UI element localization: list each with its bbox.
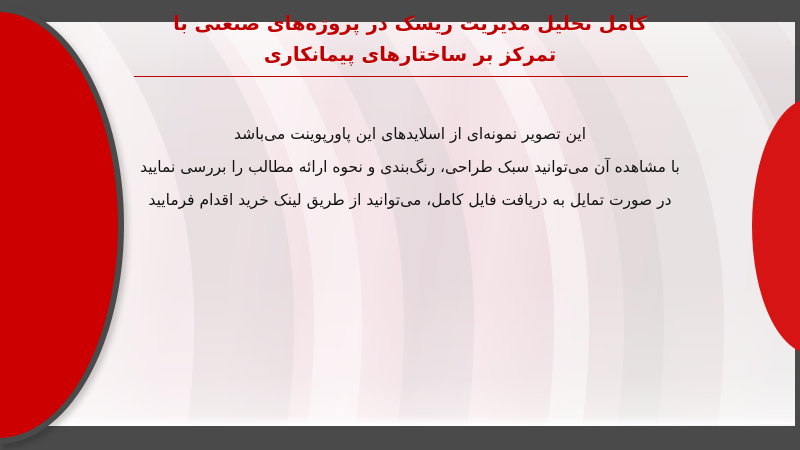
slide-title: کامل تحلیل مدیریت ریسک در پروژه‌های صنعت… (120, 8, 700, 70)
slide-body-line-3: در صورت تمایل به دریافت فایل کامل، می‌تو… (70, 184, 750, 217)
slide-frame-bottom-band (0, 426, 800, 450)
slide-body-text: این تصویر نمونه‌ای از اسلایدهای این پاور… (70, 118, 750, 217)
slide-body-line-2: با مشاهده آن می‌توانید سبک طراحی، رنگ‌بن… (70, 151, 750, 184)
presentation-slide: کامل تحلیل مدیریت ریسک در پروژه‌های صنعت… (0, 0, 800, 450)
slide-title-line-2: تمرکز بر ساختارهای پیمانکاری (120, 39, 700, 70)
slide-title-line-1: کامل تحلیل مدیریت ریسک در پروژه‌های صنعت… (120, 8, 700, 39)
title-underline-rule (134, 76, 688, 77)
slide-body-line-1: این تصویر نمونه‌ای از اسلایدهای این پاور… (70, 118, 750, 151)
